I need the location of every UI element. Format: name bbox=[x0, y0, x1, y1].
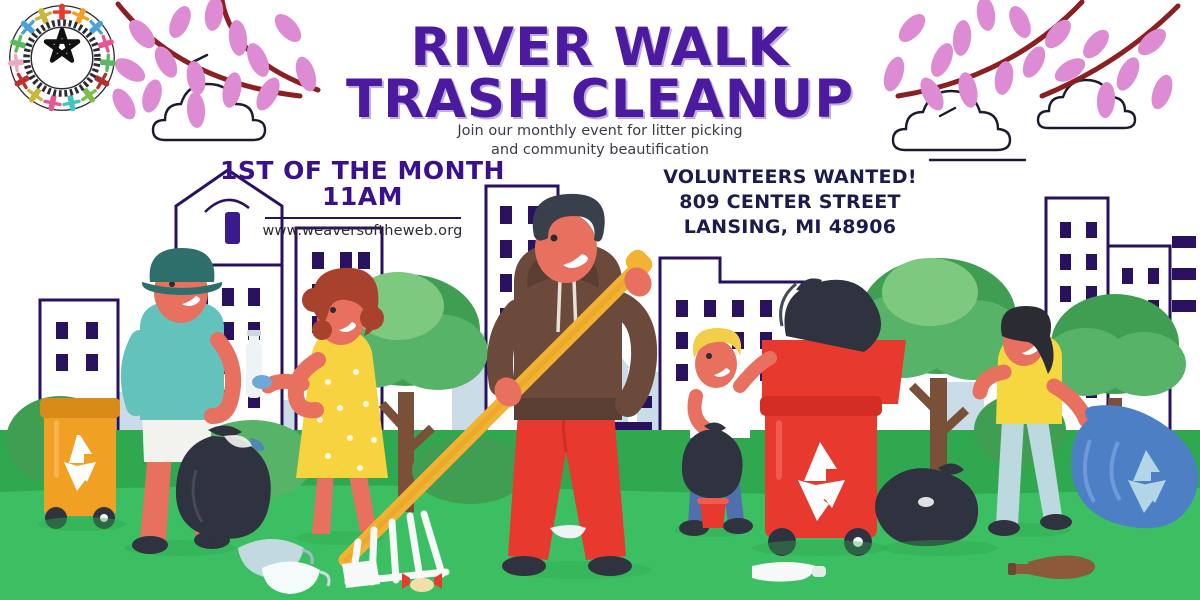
title-line-1: RIVER WALK bbox=[0, 22, 1200, 74]
address-street: 809 CENTER STREET bbox=[640, 190, 940, 215]
event-time: 11AM bbox=[215, 184, 510, 210]
title-line-2: TRASH CLEANUP bbox=[0, 74, 1200, 126]
event-flyer: RIVER WALK TRASH CLEANUP Join our monthl… bbox=[0, 0, 1200, 600]
event-time-block: 1ST OF THE MONTH 11AM www.weaversofthewe… bbox=[215, 158, 510, 239]
subtitle-line-1: Join our monthly event for litter pickin… bbox=[0, 122, 1200, 141]
volunteers-wanted-heading: VOLUNTEERS WANTED! bbox=[640, 165, 940, 190]
subtitle-line-2: and community beautification bbox=[0, 141, 1200, 160]
address-city-state-zip: LANSING, MI 48906 bbox=[640, 215, 940, 240]
website-link[interactable]: www.weaversoftheweb.org bbox=[215, 223, 510, 239]
event-location-block: VOLUNTEERS WANTED! 809 CENTER STREET LAN… bbox=[640, 165, 940, 240]
page-title: RIVER WALK TRASH CLEANUP bbox=[0, 22, 1200, 126]
divider bbox=[265, 217, 461, 219]
event-date: 1ST OF THE MONTH bbox=[215, 158, 510, 184]
subtitle: Join our monthly event for litter pickin… bbox=[0, 122, 1200, 159]
